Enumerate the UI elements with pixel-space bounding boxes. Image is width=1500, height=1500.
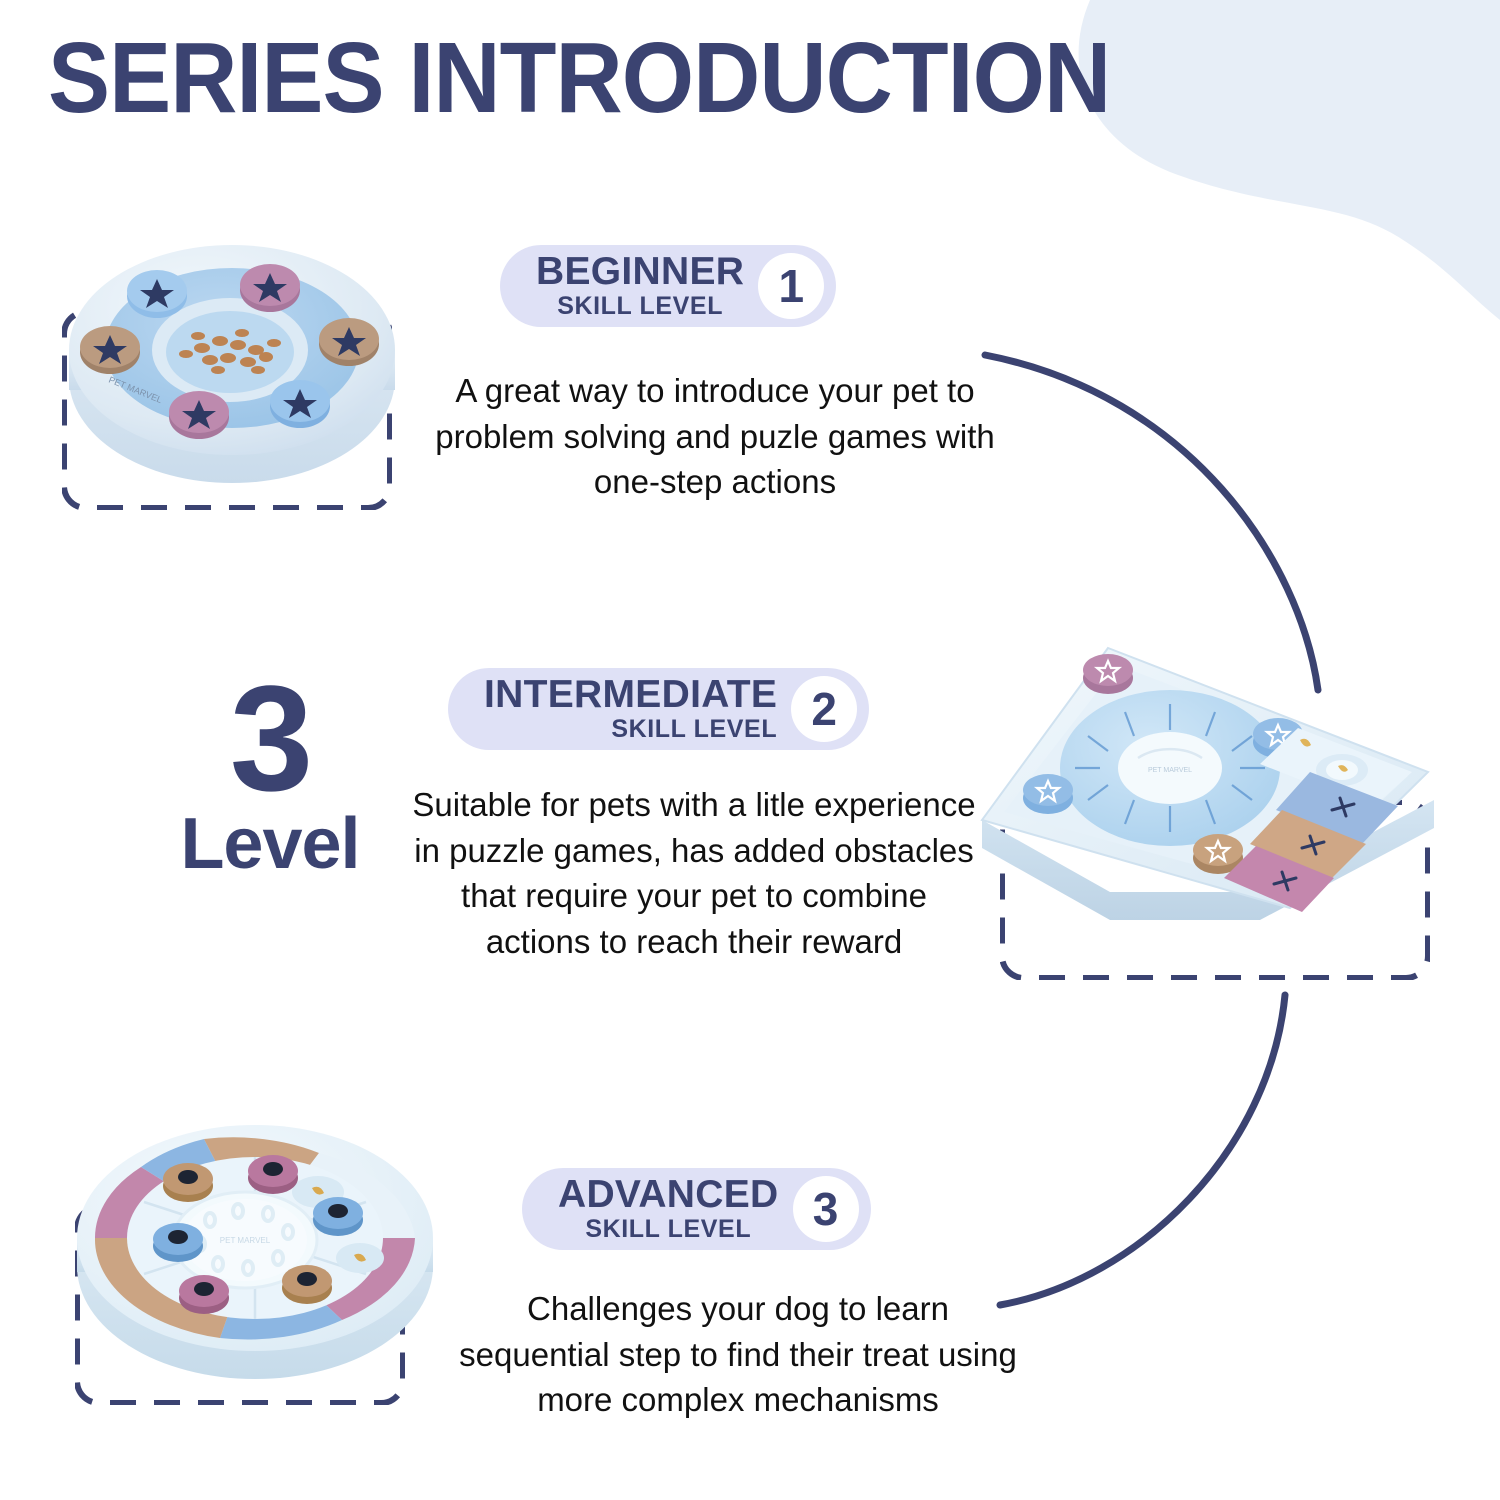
skill-badge-intermediate-subtitle: SKILL LEVEL bbox=[611, 716, 777, 742]
level-description-advanced: Challenges your dog to learn sequential … bbox=[448, 1286, 1028, 1423]
product-image-rectangular-tray-puzzle: PET MARVEL bbox=[960, 620, 1450, 960]
skill-badge-advanced-subtitle: SKILL LEVEL bbox=[585, 1216, 751, 1242]
skill-badge-intermediate[interactable]: INTERMEDIATE SKILL LEVEL 2 bbox=[448, 668, 869, 750]
product-brand-label-tray: PET MARVEL bbox=[1148, 767, 1192, 774]
page-title: SERIES INTRODUCTION bbox=[48, 28, 1110, 128]
infographic-canvas: SERIES INTRODUCTION bbox=[0, 0, 1500, 1500]
level-count-number: 3 bbox=[140, 672, 400, 804]
skill-badge-advanced-number: 3 bbox=[793, 1176, 859, 1242]
product-brand-label-disc: PET MARVEL bbox=[220, 1236, 271, 1245]
level-count-word: Level bbox=[140, 808, 400, 880]
skill-badge-beginner[interactable]: BEGINNER SKILL LEVEL 1 bbox=[500, 245, 836, 327]
level-summary: 3 Level bbox=[140, 672, 400, 880]
skill-badge-intermediate-title: INTERMEDIATE bbox=[484, 676, 777, 714]
skill-badge-beginner-subtitle: SKILL LEVEL bbox=[557, 293, 723, 319]
skill-badge-intermediate-text: INTERMEDIATE SKILL LEVEL bbox=[484, 676, 777, 742]
connector-curve-bottom bbox=[1000, 995, 1285, 1305]
skill-badge-beginner-text: BEGINNER SKILL LEVEL bbox=[536, 253, 744, 319]
level-description-beginner: A great way to introduce your pet to pro… bbox=[430, 368, 1000, 505]
skill-badge-beginner-number: 1 bbox=[758, 253, 824, 319]
level-description-intermediate: Suitable for pets with a litle experienc… bbox=[408, 782, 980, 964]
product-image-round-bowl-puzzle: PET MARVEL bbox=[52, 200, 412, 530]
skill-badge-intermediate-number: 2 bbox=[791, 676, 857, 742]
skill-badge-beginner-title: BEGINNER bbox=[536, 253, 744, 291]
skill-badge-advanced[interactable]: ADVANCED SKILL LEVEL 3 bbox=[522, 1168, 871, 1250]
skill-badge-advanced-text: ADVANCED SKILL LEVEL bbox=[558, 1176, 779, 1242]
skill-badge-advanced-title: ADVANCED bbox=[558, 1176, 779, 1214]
product-image-round-disc-puzzle: PET MARVEL bbox=[60, 1080, 450, 1410]
